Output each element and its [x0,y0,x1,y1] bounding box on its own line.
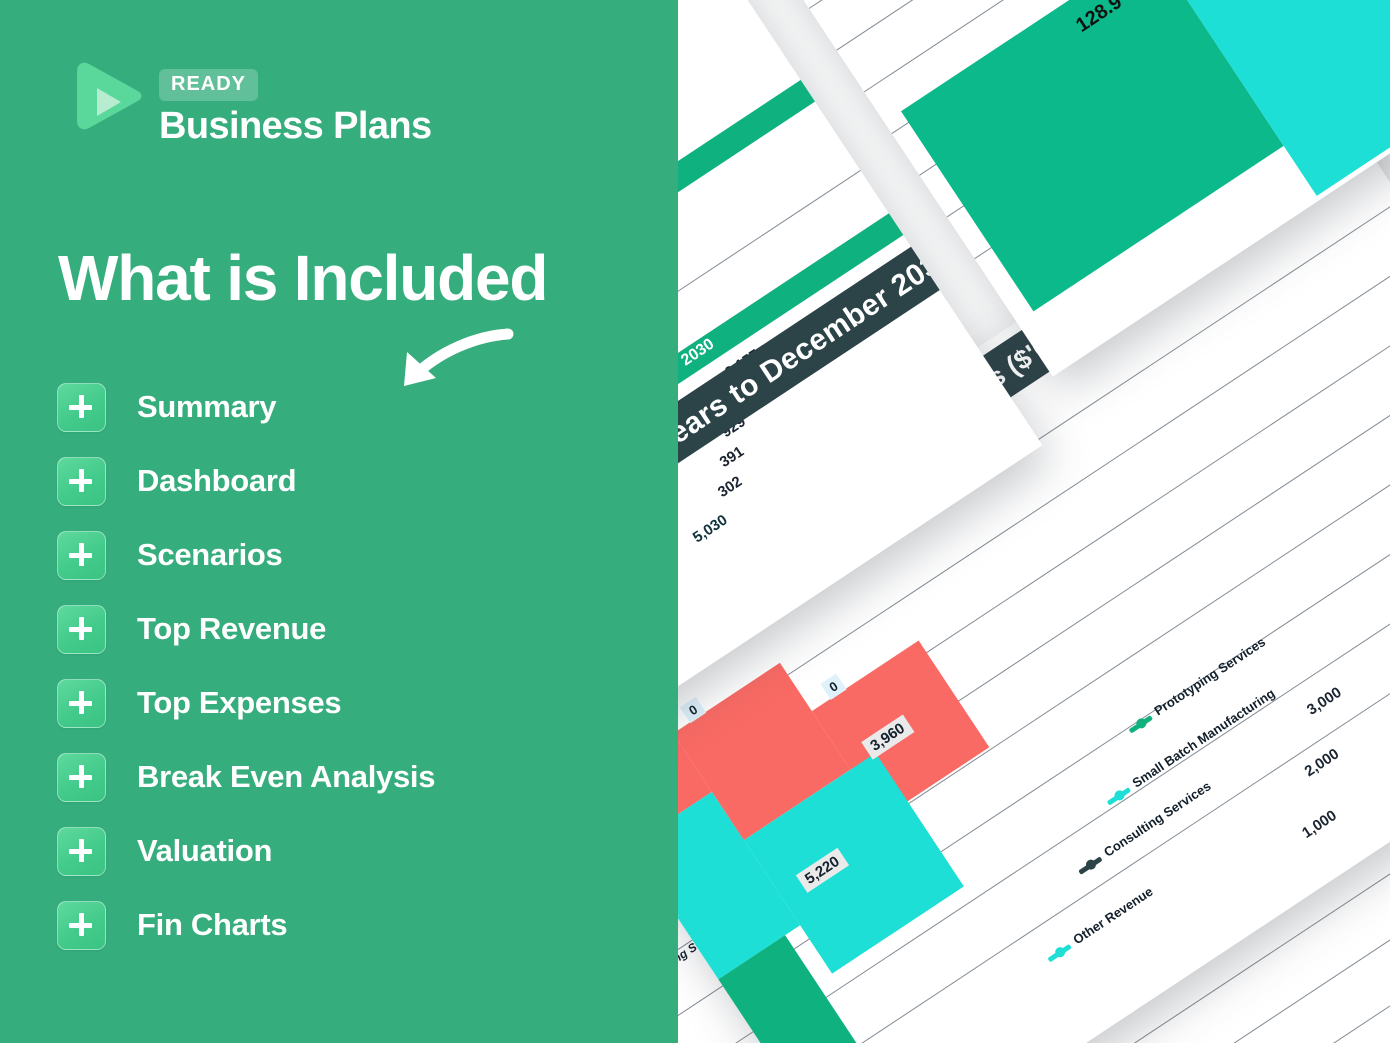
list-item-label: Break Even Analysis [137,759,435,795]
table-cell: 302 [715,473,745,501]
list-item-label: Top Expenses [137,685,341,721]
page-title: What is Included [58,246,547,310]
legend-marker-other-revenue [1047,944,1071,963]
list-item-scenarios[interactable]: Scenarios [57,530,657,580]
list-item-valuation[interactable]: Valuation [57,826,657,876]
left-panel: READY Business Plans What is Included Su… [0,0,678,1043]
table-cell: 391 [717,443,747,471]
plus-icon[interactable] [57,679,106,728]
list-item-label: Scenarios [137,537,283,573]
list-item-label: Fin Charts [137,907,287,943]
list-item-top-revenue[interactable]: Top Revenue [57,604,657,654]
ready-badge: READY [159,69,258,101]
axis-label: 1,000 [1299,807,1340,842]
plus-icon[interactable] [57,827,106,876]
legend-marker-consulting [1078,856,1102,875]
legend-label-other-revenue: Other Revenue [1071,885,1156,949]
play-triangle-icon [63,55,145,137]
poster-canvas: REVENUE BREAKDOWN - $'000 Small Batch Ma… [0,0,1390,1043]
axis-label: 3,000 [1304,684,1345,719]
list-item-label: Dashboard [137,463,296,499]
list-item-break-even-analysis[interactable]: Break Even Analysis [57,752,657,802]
brand-text-block: READY Business Plans [159,69,432,145]
legend-label-small-batch: Small Batch Manufacturing [1130,686,1278,791]
plus-icon[interactable] [57,753,106,802]
plus-icon[interactable] [57,383,106,432]
list-item-label: Top Revenue [137,611,326,647]
plus-icon[interactable] [57,901,106,950]
axis-label: 2,000 [1302,745,1343,780]
list-item-dashboard[interactable]: Dashboard [57,456,657,506]
plus-icon[interactable] [57,457,106,506]
brand-name: Business Plans [159,107,432,145]
table-total: 5,030 [690,511,731,546]
brand-logo[interactable]: READY Business Plans [63,55,432,145]
list-item-summary[interactable]: Summary [57,382,657,432]
list-item-fin-charts[interactable]: Fin Charts [57,900,657,950]
plus-icon[interactable] [57,605,106,654]
list-item-label: Valuation [137,833,272,869]
plus-icon[interactable] [57,531,106,580]
list-item-label: Summary [137,389,276,425]
list-item-top-expenses[interactable]: Top Expenses [57,678,657,728]
included-items-list: Summary Dashboard Scenarios Top Revenue … [57,382,657,974]
